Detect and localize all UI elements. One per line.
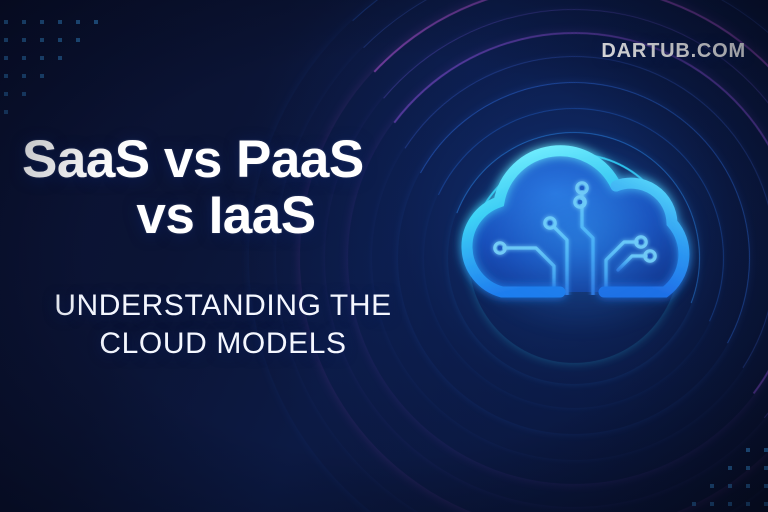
poster-canvas: DARTUB.COM SaaS vs PaaS vs IaaS UNDERSTA… bbox=[0, 0, 768, 512]
title-line-1: SaaS vs PaaS bbox=[22, 132, 430, 188]
grid-dot bbox=[40, 74, 44, 78]
grid-dot bbox=[764, 502, 768, 506]
grid-dot bbox=[76, 38, 80, 42]
grid-dot bbox=[728, 502, 732, 506]
grid-dot bbox=[764, 448, 768, 452]
grid-dot bbox=[40, 20, 44, 24]
grid-dot bbox=[692, 502, 696, 506]
grid-dot bbox=[4, 74, 8, 78]
grid-dot bbox=[22, 92, 26, 96]
grid-dot bbox=[58, 56, 62, 60]
grid-dot bbox=[764, 484, 768, 488]
grid-dot bbox=[4, 110, 8, 114]
grid-dot bbox=[94, 20, 98, 24]
page-title: SaaS vs PaaS vs IaaS bbox=[22, 132, 430, 244]
grid-dot bbox=[4, 56, 8, 60]
grid-dot bbox=[76, 20, 80, 24]
grid-dot bbox=[22, 20, 26, 24]
brand-logo[interactable]: DARTUB.COM bbox=[601, 40, 746, 63]
grid-dot bbox=[746, 484, 750, 488]
grid-dot bbox=[4, 38, 8, 42]
grid-dot bbox=[22, 56, 26, 60]
grid-dot bbox=[58, 38, 62, 42]
grid-dot bbox=[746, 466, 750, 470]
grid-dot bbox=[4, 92, 8, 96]
grid-dot bbox=[40, 38, 44, 42]
cloud-glow bbox=[460, 144, 704, 334]
grid-dot bbox=[710, 502, 714, 506]
subtitle-line-2: CLOUD MODELS bbox=[18, 325, 428, 363]
grid-dot bbox=[22, 38, 26, 42]
title-line-2: vs IaaS bbox=[22, 188, 430, 244]
cloud-circuit-icon bbox=[432, 120, 732, 370]
grid-dot bbox=[40, 56, 44, 60]
grid-dot bbox=[710, 484, 714, 488]
grid-dot bbox=[22, 74, 26, 78]
grid-dot bbox=[58, 20, 62, 24]
page-subtitle: UNDERSTANDING THE CLOUD MODELS bbox=[18, 287, 428, 363]
grid-dot bbox=[728, 484, 732, 488]
grid-dot bbox=[746, 502, 750, 506]
grid-dot bbox=[746, 448, 750, 452]
subtitle-line-1: UNDERSTANDING THE bbox=[18, 287, 428, 325]
grid-dot bbox=[4, 20, 8, 24]
grid-dot bbox=[764, 466, 768, 470]
grid-dot bbox=[728, 466, 732, 470]
